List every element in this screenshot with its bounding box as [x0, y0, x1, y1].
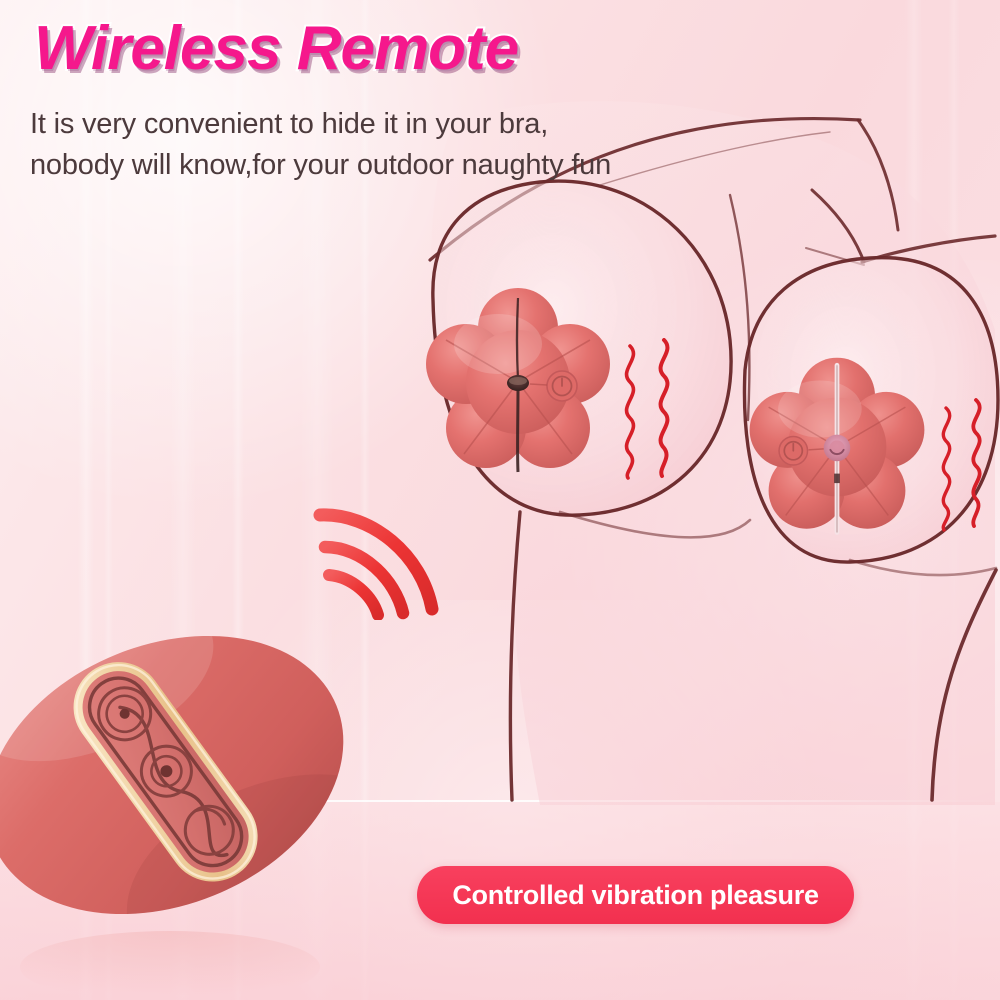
power-icon [779, 437, 808, 466]
feature-badge-label: Controlled vibration pleasure [452, 880, 818, 911]
vibration-squiggles-left [608, 338, 688, 483]
wireless-remote[interactable] [0, 575, 400, 995]
headline-block: Wireless Remote [34, 16, 518, 81]
feature-badge: Controlled vibration pleasure [417, 866, 854, 924]
vibration-squiggles-right [928, 398, 998, 533]
page-title: Wireless Remote [34, 16, 518, 81]
flower-vibrator-left[interactable] [418, 282, 618, 482]
page-subtitle: It is very convenient to hide it in your… [30, 104, 611, 186]
power-icon [547, 371, 577, 401]
flower-vibrator-right[interactable] [742, 352, 932, 542]
product-banner: Wireless Remote It is very convenient to… [0, 0, 1000, 1000]
